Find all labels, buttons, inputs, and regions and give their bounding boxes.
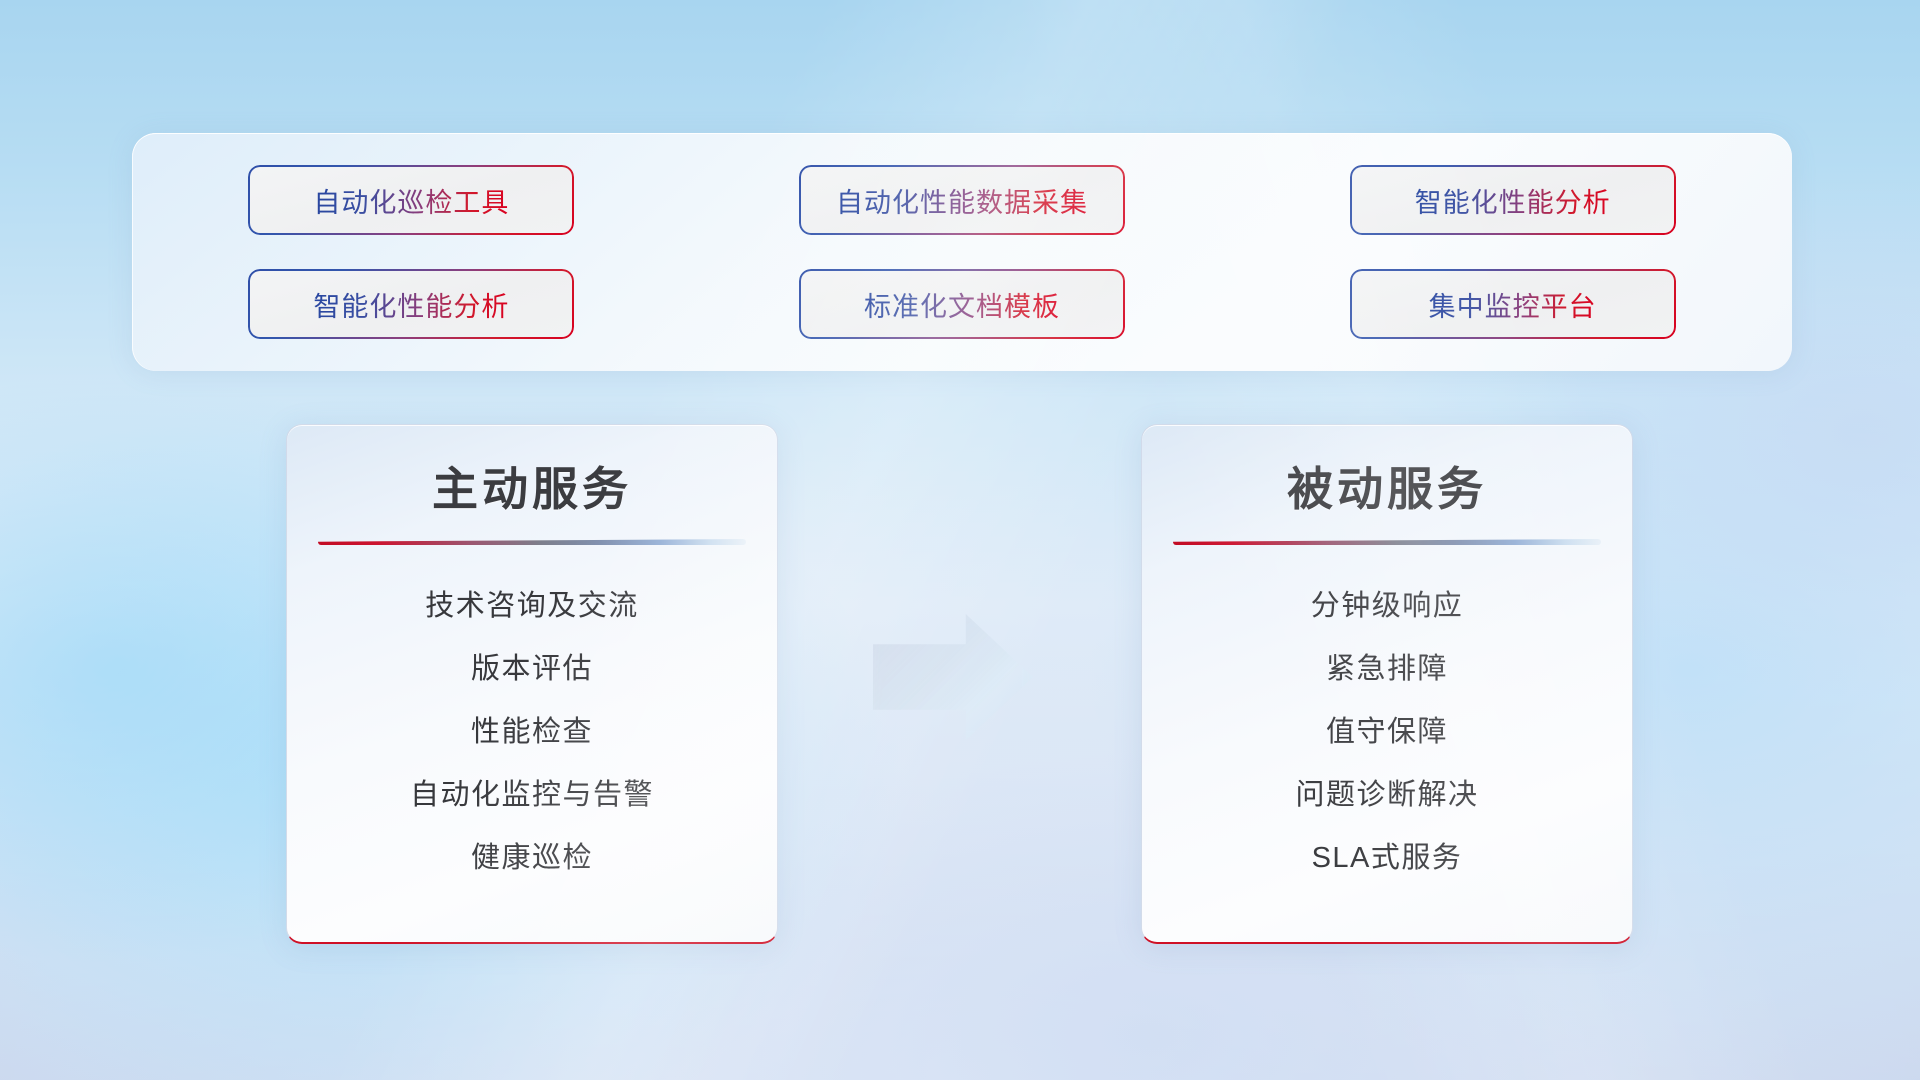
capability-pill-label: 自动化性能数据采集: [836, 181, 1088, 220]
list-item: 自动化监控与告警: [410, 781, 654, 810]
list-item: 紧急排障: [1326, 655, 1448, 684]
capability-pill-intelligent-performance-analysis-2[interactable]: 智能化性能分析: [250, 271, 572, 337]
capability-pill-automated-inspection-tool[interactable]: 自动化巡检工具: [250, 167, 572, 233]
list-item: 性能检查: [471, 718, 593, 747]
list-item: 健康巡检: [471, 844, 593, 873]
title-divider: [318, 539, 746, 545]
list-item: SLA式服务: [1312, 844, 1463, 873]
service-card-title: 主动服务: [432, 453, 632, 519]
capability-pill-label: 自动化巡检工具: [313, 181, 509, 220]
service-card-reactive[interactable]: 被动服务 分钟级响应 紧急排障 值守保障 问题诊断解决 SLA式服务: [1141, 424, 1633, 944]
service-item-list: 技术咨询及交流 版本评估 性能检查 自动化监控与告警 健康巡检: [287, 575, 777, 942]
capability-pill-automated-performance-data-collection[interactable]: 自动化性能数据采集: [801, 167, 1123, 233]
capabilities-panel: 自动化巡检工具 自动化性能数据采集 智能化性能分析 智能化性能分析 标准化文档模…: [132, 133, 1792, 371]
title-divider: [1173, 539, 1601, 545]
list-item: 问题诊断解决: [1295, 781, 1478, 810]
service-item-list: 分钟级响应 紧急排障 值守保障 问题诊断解决 SLA式服务: [1142, 575, 1632, 942]
list-item: 版本评估: [471, 655, 593, 684]
capability-pill-label: 智能化性能分析: [313, 285, 509, 324]
arrow-right-icon: [873, 614, 1033, 740]
list-item: 值守保障: [1326, 718, 1448, 747]
service-card-proactive[interactable]: 主动服务 技术咨询及交流 版本评估 性能检查 自动化监控与告警 健康巡检: [286, 424, 778, 944]
capability-pill-label: 智能化性能分析: [1415, 181, 1611, 220]
capability-pill-intelligent-performance-analysis-1[interactable]: 智能化性能分析: [1352, 167, 1674, 233]
poster-stage: 自动化巡检工具 自动化性能数据采集 智能化性能分析 智能化性能分析 标准化文档模…: [0, 0, 1920, 1080]
list-item: 分钟级响应: [1311, 592, 1464, 621]
capability-pill-label: 标准化文档模板: [864, 285, 1060, 324]
service-card-title: 被动服务: [1287, 453, 1487, 519]
capability-pill-standardized-doc-template[interactable]: 标准化文档模板: [801, 271, 1123, 337]
list-item: 技术咨询及交流: [425, 592, 639, 621]
capability-pill-centralized-monitoring-platform[interactable]: 集中监控平台: [1352, 271, 1674, 337]
capability-pill-label: 集中监控平台: [1429, 285, 1597, 324]
